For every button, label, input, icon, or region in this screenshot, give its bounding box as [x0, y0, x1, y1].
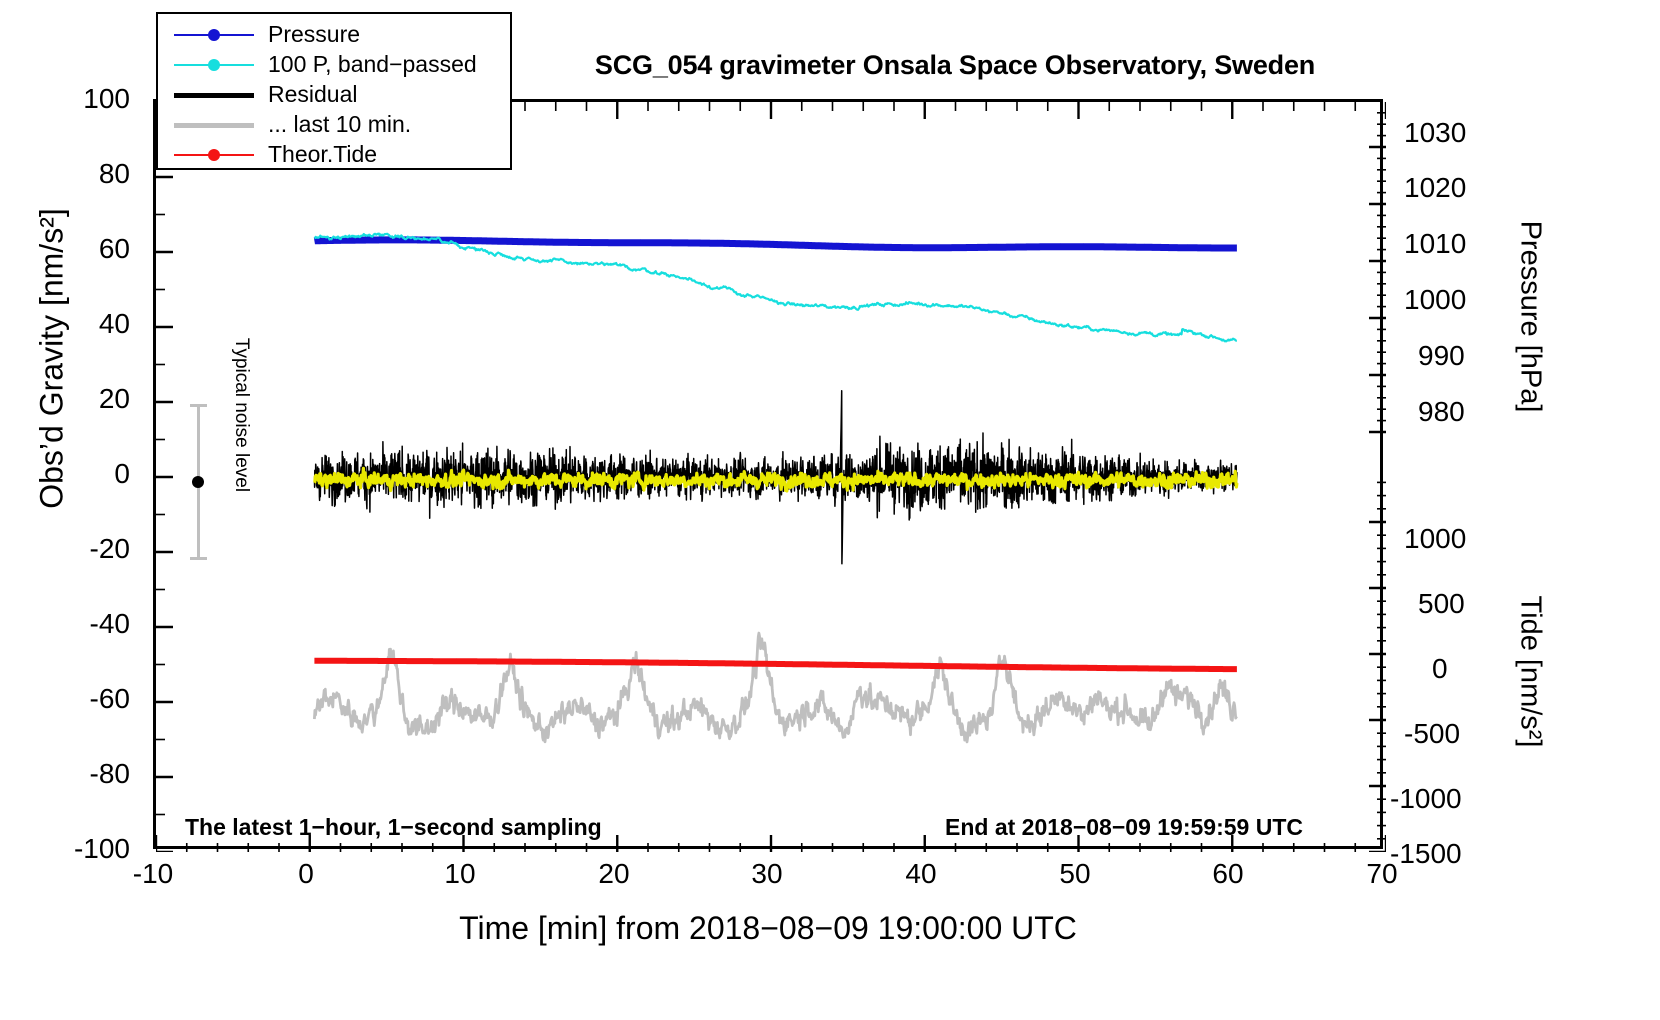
data-series-group	[314, 234, 1237, 742]
legend-swatch-icon	[174, 85, 254, 105]
chart-title: SCG_054 gravimeter Onsala Space Observat…	[520, 50, 1390, 81]
tide-tick-label: 0	[1432, 653, 1542, 685]
x-tick-label: 70	[1322, 858, 1442, 890]
pressure-tick-label: 990	[1418, 340, 1528, 372]
y-tick-label: 20	[30, 383, 130, 415]
errorbar-cap-bottom	[190, 557, 207, 560]
legend-label: Residual	[268, 81, 358, 108]
tide-tick-label: 500	[1418, 588, 1528, 620]
y-tick-label: -60	[30, 683, 130, 715]
legend-item-theortide[interactable]: Theor.Tide	[158, 140, 510, 169]
errorbar-center-dot	[192, 476, 204, 488]
pressure-tick-label: 1020	[1404, 172, 1514, 204]
legend: Pressure 100 P, band−passed Residual ...…	[156, 12, 512, 170]
y-tick-label: 0	[30, 458, 130, 490]
plot-area	[153, 99, 1383, 849]
x-axis-title: Time [min] from 2018−08−09 19:00:00 UTC	[153, 910, 1383, 947]
pressure-tick-label: 980	[1418, 396, 1528, 428]
legend-item-residual[interactable]: Residual	[158, 80, 510, 109]
x-tick-label: 30	[707, 858, 827, 890]
legend-label: Theor.Tide	[268, 141, 377, 168]
errorbar-cap-top	[190, 404, 207, 407]
x-tick-label: 60	[1168, 858, 1288, 890]
legend-swatch-icon	[174, 145, 254, 165]
x-tick-label: 20	[554, 858, 674, 890]
noise-level-errorbar	[188, 404, 208, 560]
legend-swatch-icon	[174, 115, 254, 135]
tide-tick-label: -1000	[1390, 783, 1500, 815]
x-tick-label: 10	[400, 858, 520, 890]
legend-label: 100 P, band−passed	[268, 51, 477, 78]
note-sampling: The latest 1−hour, 1−second sampling	[185, 814, 602, 841]
y-tick-label: 40	[30, 308, 130, 340]
y-tick-label: -80	[30, 758, 130, 790]
y-tick-label: 60	[30, 233, 130, 265]
y-tick-label: 80	[30, 158, 130, 190]
tide-tick-label: -500	[1404, 718, 1514, 750]
legend-item-last10min[interactable]: ... last 10 min.	[158, 110, 510, 139]
x-tick-label: 0	[246, 858, 366, 890]
tide-tick-label: 1000	[1404, 523, 1514, 555]
legend-swatch-icon	[174, 25, 254, 45]
legend-label: ... last 10 min.	[268, 111, 411, 138]
legend-item-bandpassed[interactable]: 100 P, band−passed	[158, 50, 510, 79]
y-axis-title-pressure: Pressure [hPa]	[1514, 107, 1547, 527]
x-tick-label: 40	[861, 858, 981, 890]
y-tick-label: 100	[30, 83, 130, 115]
legend-item-pressure[interactable]: Pressure	[158, 20, 510, 49]
legend-swatch-icon	[174, 55, 254, 75]
pressure-tick-label: 1010	[1404, 228, 1514, 260]
noise-level-label: Typical noise level	[230, 305, 252, 525]
x-tick-label: 50	[1015, 858, 1135, 890]
chart-canvas: SCG_054 gravimeter Onsala Space Observat…	[0, 0, 1660, 1020]
series-canvas	[156, 102, 1386, 852]
x-tick-label: -10	[93, 858, 213, 890]
note-end-time: End at 2018−08−09 19:59:59 UTC	[945, 814, 1303, 841]
pressure-tick-label: 1030	[1404, 117, 1514, 149]
pressure-tick-label: 1000	[1404, 284, 1514, 316]
legend-label: Pressure	[268, 21, 360, 48]
y-tick-label: -20	[30, 533, 130, 565]
y-tick-label: -40	[30, 608, 130, 640]
